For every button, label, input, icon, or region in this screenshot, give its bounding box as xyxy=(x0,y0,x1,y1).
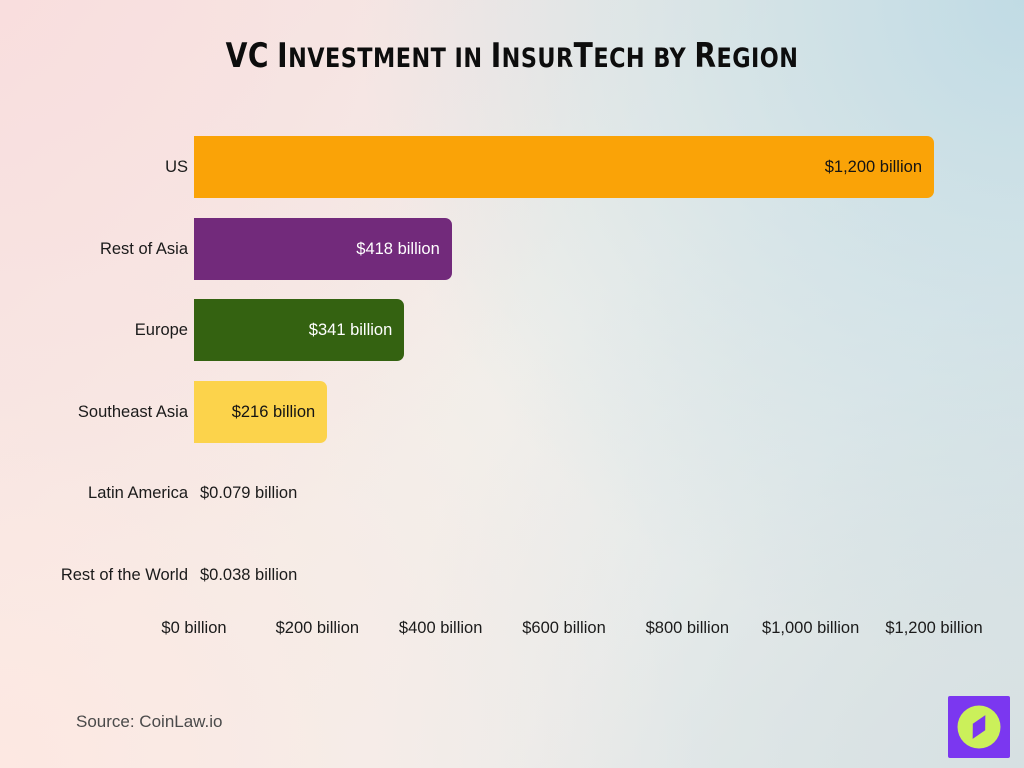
category-label: Latin America xyxy=(88,462,188,524)
x-axis-tick-label: $0 billion xyxy=(161,612,226,644)
category-label: Europe xyxy=(135,299,188,361)
coinlaw-logo xyxy=(948,696,1010,758)
x-axis-tick-label: $800 billion xyxy=(646,612,729,644)
bar-value-label: $0.079 billion xyxy=(200,462,297,524)
bar-row: Latin America$0.079 billion xyxy=(0,462,1024,524)
category-label: Rest of Asia xyxy=(100,218,188,280)
x-axis-tick-label: $200 billion xyxy=(276,612,359,644)
logo-compass-icon xyxy=(948,696,1010,758)
x-axis-tick-label: $1,200 billion xyxy=(885,612,982,644)
bar-row: US$1,200 billion xyxy=(0,136,1024,198)
bar-row: Rest of the World$0.038 billion xyxy=(0,544,1024,606)
bar-row: Southeast Asia$216 billion xyxy=(0,381,1024,443)
bar-value-label: $418 billion xyxy=(356,218,439,280)
chart-canvas: VC INVESTMENT IN INSURTECH BY REGION US$… xyxy=(0,0,1024,768)
bar[interactable] xyxy=(194,136,934,198)
bar-value-label: $216 billion xyxy=(232,381,315,443)
x-axis-tick-label: $400 billion xyxy=(399,612,482,644)
category-label: Southeast Asia xyxy=(78,381,188,443)
bar-value-label: $0.038 billion xyxy=(200,544,297,606)
x-axis: $0 billion$200 billion$400 billion$600 b… xyxy=(0,612,1024,644)
x-axis-tick-label: $1,000 billion xyxy=(762,612,859,644)
x-axis-tick-label: $600 billion xyxy=(522,612,605,644)
bar-value-label: $341 billion xyxy=(309,299,392,361)
category-label: Rest of the World xyxy=(61,544,188,606)
bar-row: Europe$341 billion xyxy=(0,299,1024,361)
bar-chart-plot-area: US$1,200 billionRest of Asia$418 billion… xyxy=(0,0,1024,768)
source-caption: Source: CoinLaw.io xyxy=(76,712,222,732)
category-label: US xyxy=(165,136,188,198)
bar-value-label: $1,200 billion xyxy=(825,136,922,198)
bar-row: Rest of Asia$418 billion xyxy=(0,218,1024,280)
